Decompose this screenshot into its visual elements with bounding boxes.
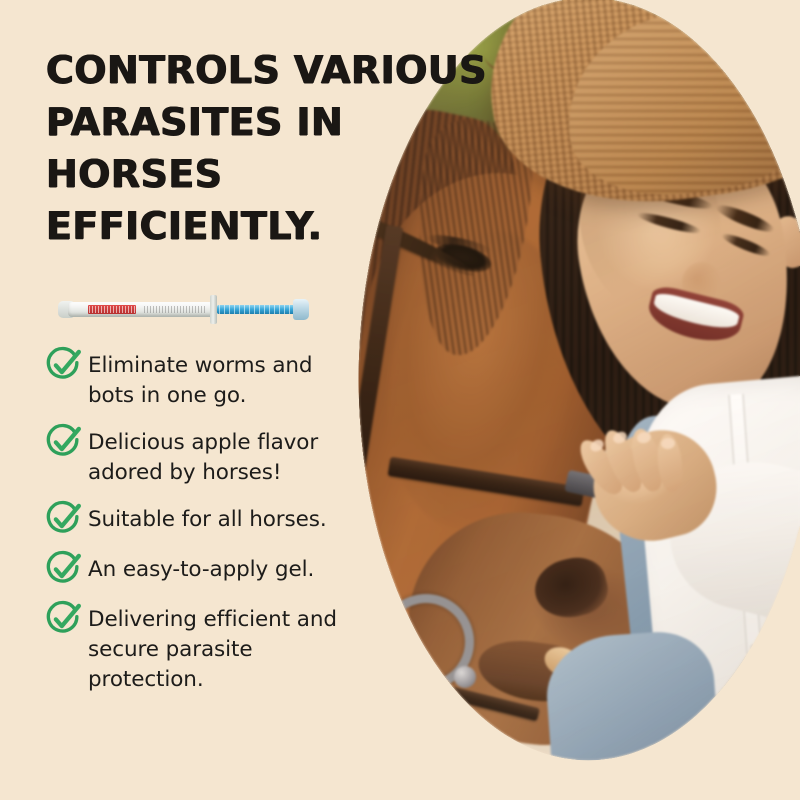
page-title: CONTROLS VARIOUS PARASITES IN HORSES EFF… — [46, 44, 396, 252]
list-item-label: Delivering efficient and secure parasite… — [88, 604, 364, 695]
syringe-icon — [58, 294, 310, 324]
headline-line-3: HORSES — [46, 148, 396, 200]
syringe-flange — [210, 295, 217, 324]
poster-canvas: CONTROLS VARIOUS PARASITES IN HORSES EFF… — [0, 0, 800, 800]
list-item-label: Delicious apple flavor adored by horses! — [88, 427, 364, 488]
list-item: Suitable for all horses. — [44, 504, 374, 538]
headline-line-2: PARASITES IN — [46, 96, 396, 148]
list-item-label: Suitable for all horses. — [88, 504, 327, 535]
list-item-label: Eliminate worms and bots in one go. — [88, 350, 364, 411]
shirt-button — [750, 644, 758, 652]
check-circle-icon — [44, 423, 82, 461]
syringe-dose-ticks — [219, 305, 293, 314]
headline-line-1: CONTROLS VARIOUS — [46, 44, 396, 96]
syringe-label-text — [89, 306, 135, 313]
list-item: An easy-to-apply gel. — [44, 554, 374, 588]
list-item: Eliminate worms and bots in one go. — [44, 350, 374, 411]
list-item: Delicious apple flavor adored by horses! — [44, 427, 374, 488]
list-item-label: An easy-to-apply gel. — [88, 554, 314, 585]
check-circle-icon — [44, 550, 82, 588]
syringe-thumb-cap — [293, 299, 309, 320]
photo-illustration — [330, 0, 800, 764]
list-item: Delivering efficient and secure parasite… — [44, 604, 374, 695]
headline-line-4: EFFICIENTLY. — [46, 200, 396, 252]
check-circle-icon — [44, 346, 82, 384]
woman-with-horse-photo — [330, 0, 800, 764]
syringe-label — [88, 305, 136, 314]
check-circle-icon — [44, 600, 82, 638]
benefits-list: Eliminate worms and bots in one go. Deli… — [44, 350, 374, 711]
syringe-barrel-print — [144, 306, 206, 313]
check-circle-icon — [44, 500, 82, 538]
bit-knob — [454, 666, 476, 688]
